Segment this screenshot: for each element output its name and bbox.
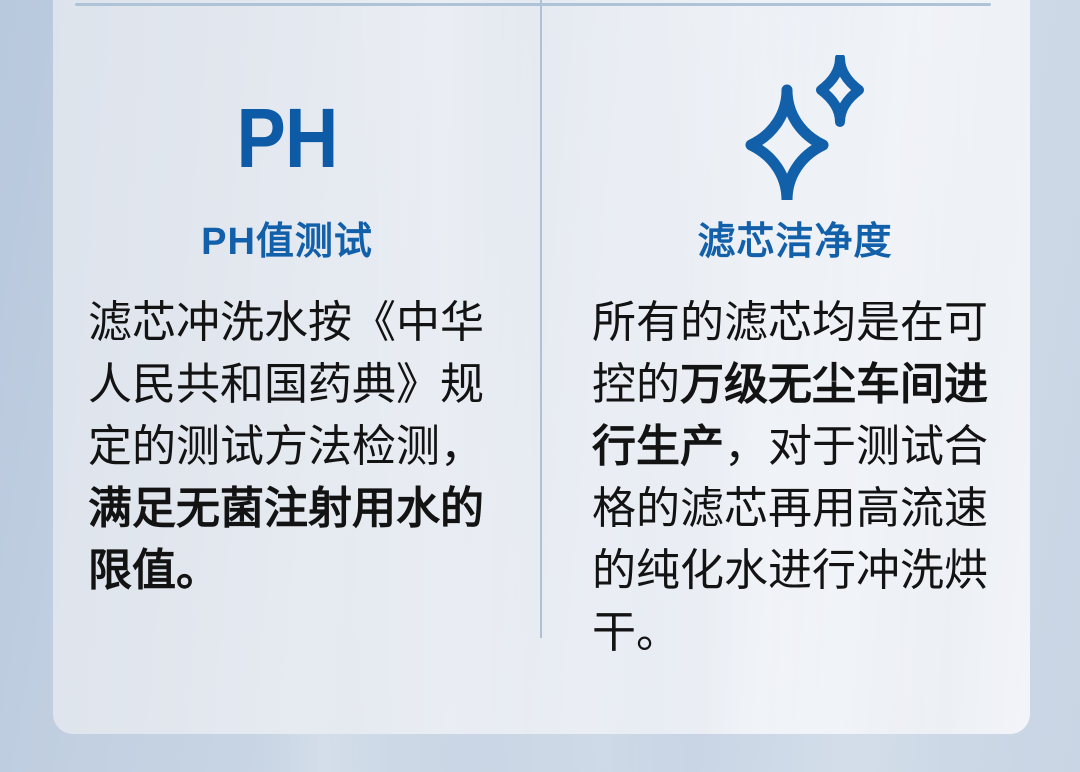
feature-columns: PH PH值测试 滤芯冲洗水按《中华人民共和国药典》规定的测试方法检测，满足无菌… bbox=[0, 0, 1080, 772]
sparkle-icon-wrap bbox=[592, 55, 998, 200]
sparkle-icon bbox=[733, 55, 878, 200]
feature-heading-filter-cleanliness: 滤芯洁净度 bbox=[592, 220, 998, 264]
feature-body-ph-test: 滤芯冲洗水按《中华人民共和国药典》规定的测试方法检测，满足无菌注射用水的限值。 bbox=[88, 292, 492, 602]
feature-body-filter-cleanliness: 所有的滤芯均是在可控的万级无尘车间进行生产，对于测试合格的滤芯再用高流速的纯化水… bbox=[592, 292, 1002, 664]
body-normal-lead: 滤芯冲洗水按《中华人民共和国药典》规定的测试方法检测， bbox=[88, 298, 484, 471]
feature-heading-ph-test: PH值测试 bbox=[88, 220, 486, 264]
ph-wordmark-icon: PH bbox=[112, 96, 462, 180]
body-emphasis: 满足无菌注射用水的限值。 bbox=[88, 484, 484, 595]
